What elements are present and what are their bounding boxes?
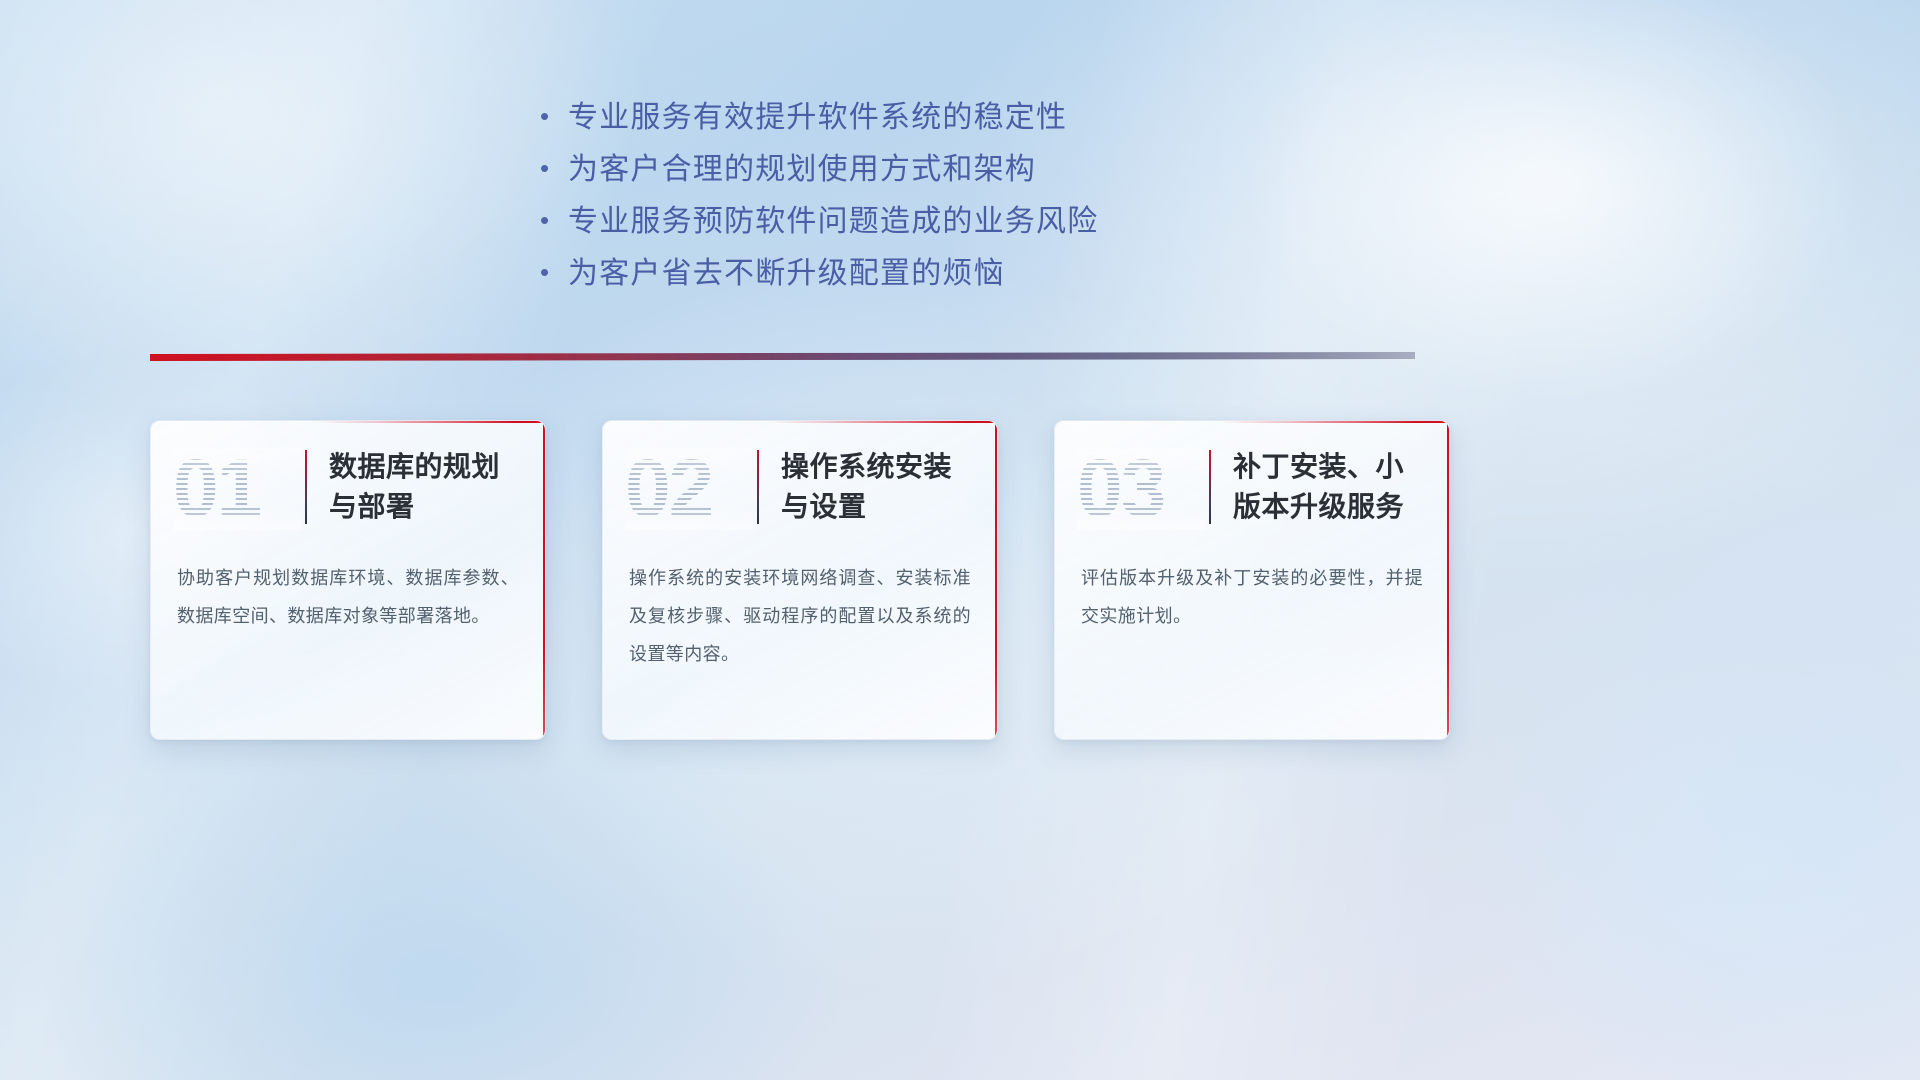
list-item: • 为客户省去不断升级配置的烦恼: [540, 248, 1300, 300]
service-card-01[interactable]: 01 数据库的规划与部署 协助客户规划数据库环境、数据库参数、数据库空间、数据库…: [150, 420, 546, 740]
card-title-divider: [305, 450, 307, 524]
list-item: • 专业服务有效提升软件系统的稳定性: [540, 92, 1300, 144]
bullet-text: 为客户合理的规划使用方式和架构: [568, 144, 1036, 196]
card-description: 评估版本升级及补丁安装的必要性，并提交实施计划。: [1055, 553, 1449, 635]
card-header: 03 补丁安装、小版本升级服务: [1055, 421, 1449, 553]
card-title: 补丁安装、小版本升级服务: [1233, 447, 1429, 527]
slide-canvas: • 专业服务有效提升软件系统的稳定性 • 为客户合理的规划使用方式和架构 • 专…: [0, 0, 1920, 1080]
bullet-dot-icon: •: [540, 155, 568, 181]
list-item: • 为客户合理的规划使用方式和架构: [540, 144, 1300, 196]
card-number-watermark: 03: [1077, 448, 1205, 530]
bullet-text: 专业服务有效提升软件系统的稳定性: [568, 92, 1067, 144]
bullet-dot-icon: •: [540, 259, 568, 285]
bullet-dot-icon: •: [540, 207, 568, 233]
bullet-text: 为客户省去不断升级配置的烦恼: [568, 248, 1005, 300]
service-card-group: 01 数据库的规划与部署 协助客户规划数据库环境、数据库参数、数据库空间、数据库…: [150, 420, 1450, 750]
divider-gradient-bar: [150, 352, 1415, 361]
benefits-bullet-list: • 专业服务有效提升软件系统的稳定性 • 为客户合理的规划使用方式和架构 • 专…: [540, 92, 1300, 300]
bullet-dot-icon: •: [540, 103, 568, 129]
card-title-divider: [757, 450, 759, 524]
card-number-watermark: 02: [625, 448, 753, 530]
card-description: 操作系统的安装环境网络调查、安装标准及复核步骤、驱动程序的配置以及系统的设置等内…: [603, 553, 997, 673]
section-divider: [150, 346, 1415, 368]
card-header: 01 数据库的规划与部署: [151, 421, 545, 553]
bullet-text: 专业服务预防软件问题造成的业务风险: [568, 196, 1098, 248]
card-title: 数据库的规划与部署: [329, 447, 525, 527]
card-title: 操作系统安装与设置: [781, 447, 977, 527]
list-item: • 专业服务预防软件问题造成的业务风险: [540, 196, 1300, 248]
card-description: 协助客户规划数据库环境、数据库参数、数据库空间、数据库对象等部署落地。: [151, 553, 545, 635]
card-title-divider: [1209, 450, 1211, 524]
service-card-02[interactable]: 02 操作系统安装与设置 操作系统的安装环境网络调查、安装标准及复核步骤、驱动程…: [602, 420, 998, 740]
service-card-03[interactable]: 03 补丁安装、小版本升级服务 评估版本升级及补丁安装的必要性，并提交实施计划。: [1054, 420, 1450, 740]
card-number-watermark: 01: [173, 448, 301, 530]
card-header: 02 操作系统安装与设置: [603, 421, 997, 553]
